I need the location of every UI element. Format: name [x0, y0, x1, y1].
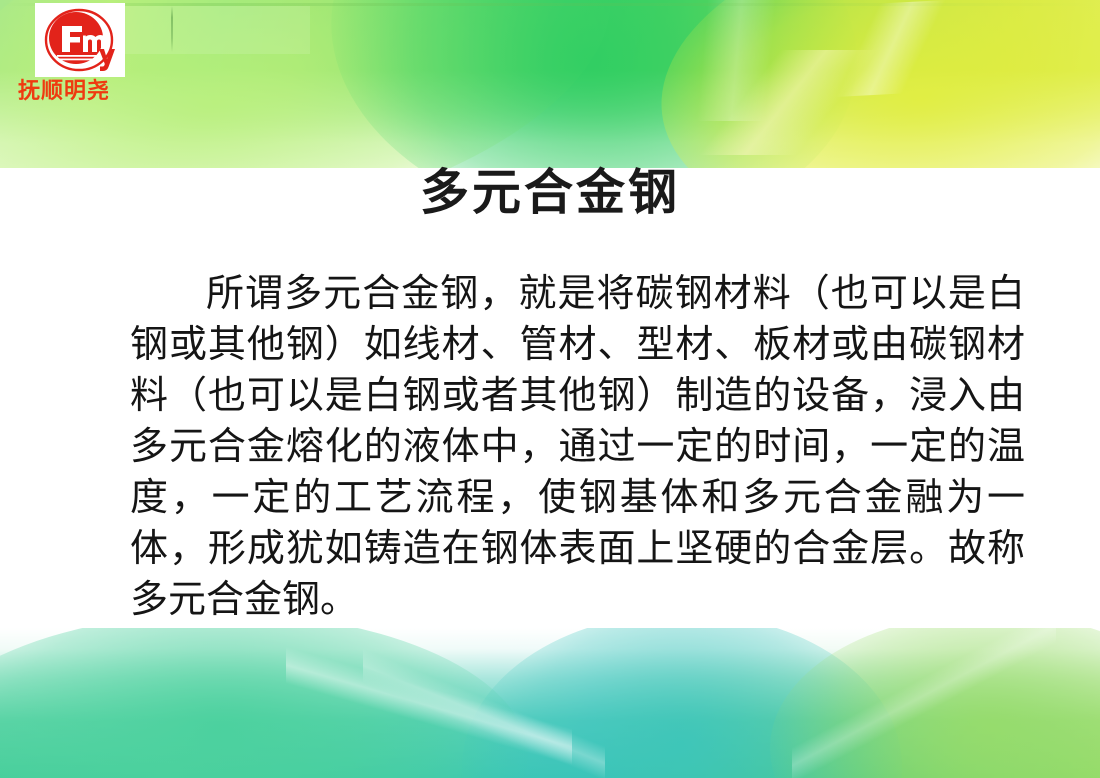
presentation-slide: 抚顺明尧 多元合金钢 所谓多元合金钢，就是将碳钢材料（也可以是白钢或其他钢）如线…	[0, 0, 1100, 778]
slide-body: 所谓多元合金钢，就是将碳钢材料（也可以是白钢或其他钢）如线材、管材、型材、板材或…	[130, 268, 1025, 625]
company-logo: 抚顺明尧	[12, 3, 142, 104]
fmy-circle-logo-icon	[43, 7, 115, 73]
logo-caption: 抚顺明尧	[18, 80, 142, 104]
logo-plate	[35, 3, 125, 77]
slide-content: 多元合金钢 所谓多元合金钢，就是将碳钢材料（也可以是白钢或其他钢）如线材、管材、…	[0, 0, 1100, 778]
slide-body-paragraph: 所谓多元合金钢，就是将碳钢材料（也可以是白钢或其他钢）如线材、管材、型材、板材或…	[130, 268, 1025, 625]
slide-title: 多元合金钢	[0, 166, 1100, 221]
